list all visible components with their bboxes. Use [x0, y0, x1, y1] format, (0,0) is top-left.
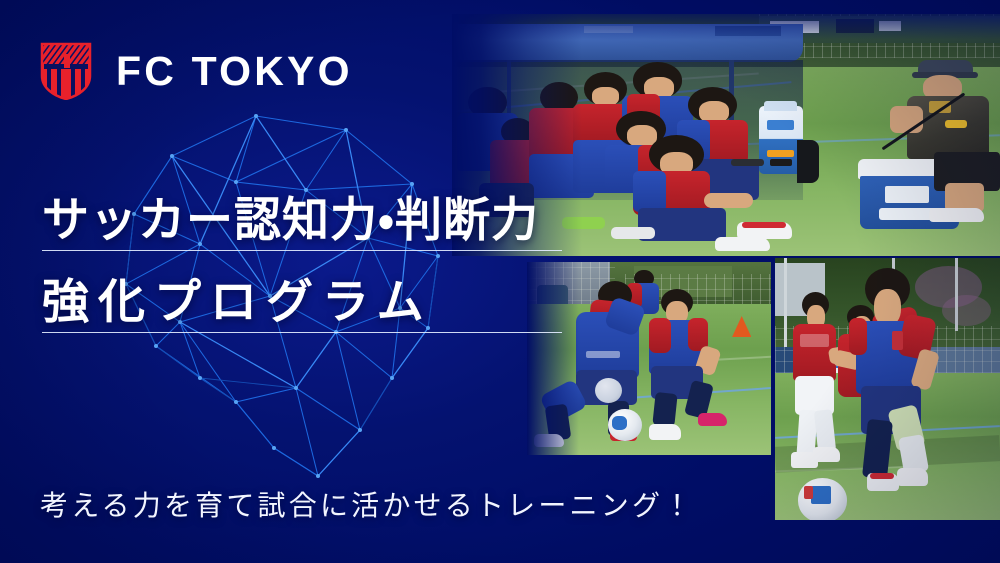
headline-line-2: 強化プログラム — [42, 278, 562, 333]
subtitle: 考える力を育て試合に活かせるトレーニング！ — [40, 484, 694, 524]
photo-one-on-one-duel-training — [527, 262, 771, 455]
headline: サッカー認知力・判断力 強化プログラム — [42, 196, 562, 333]
fc-tokyo-logo[interactable]: FC TOKYO — [40, 42, 353, 100]
logo-text: FC TOKYO — [116, 51, 353, 92]
photo-player-dribbling-past-defenders — [775, 258, 1000, 520]
headline-line-1: サッカー認知力・判断力 — [42, 196, 562, 251]
fc-tokyo-program-banner: FC TOKYO サッカー認知力・判断力 強化プログラム 考える力を育て試合に活… — [0, 0, 1000, 563]
photo-top-upper-fade — [452, 14, 1000, 40]
fc-tokyo-crest-icon — [40, 42, 92, 100]
